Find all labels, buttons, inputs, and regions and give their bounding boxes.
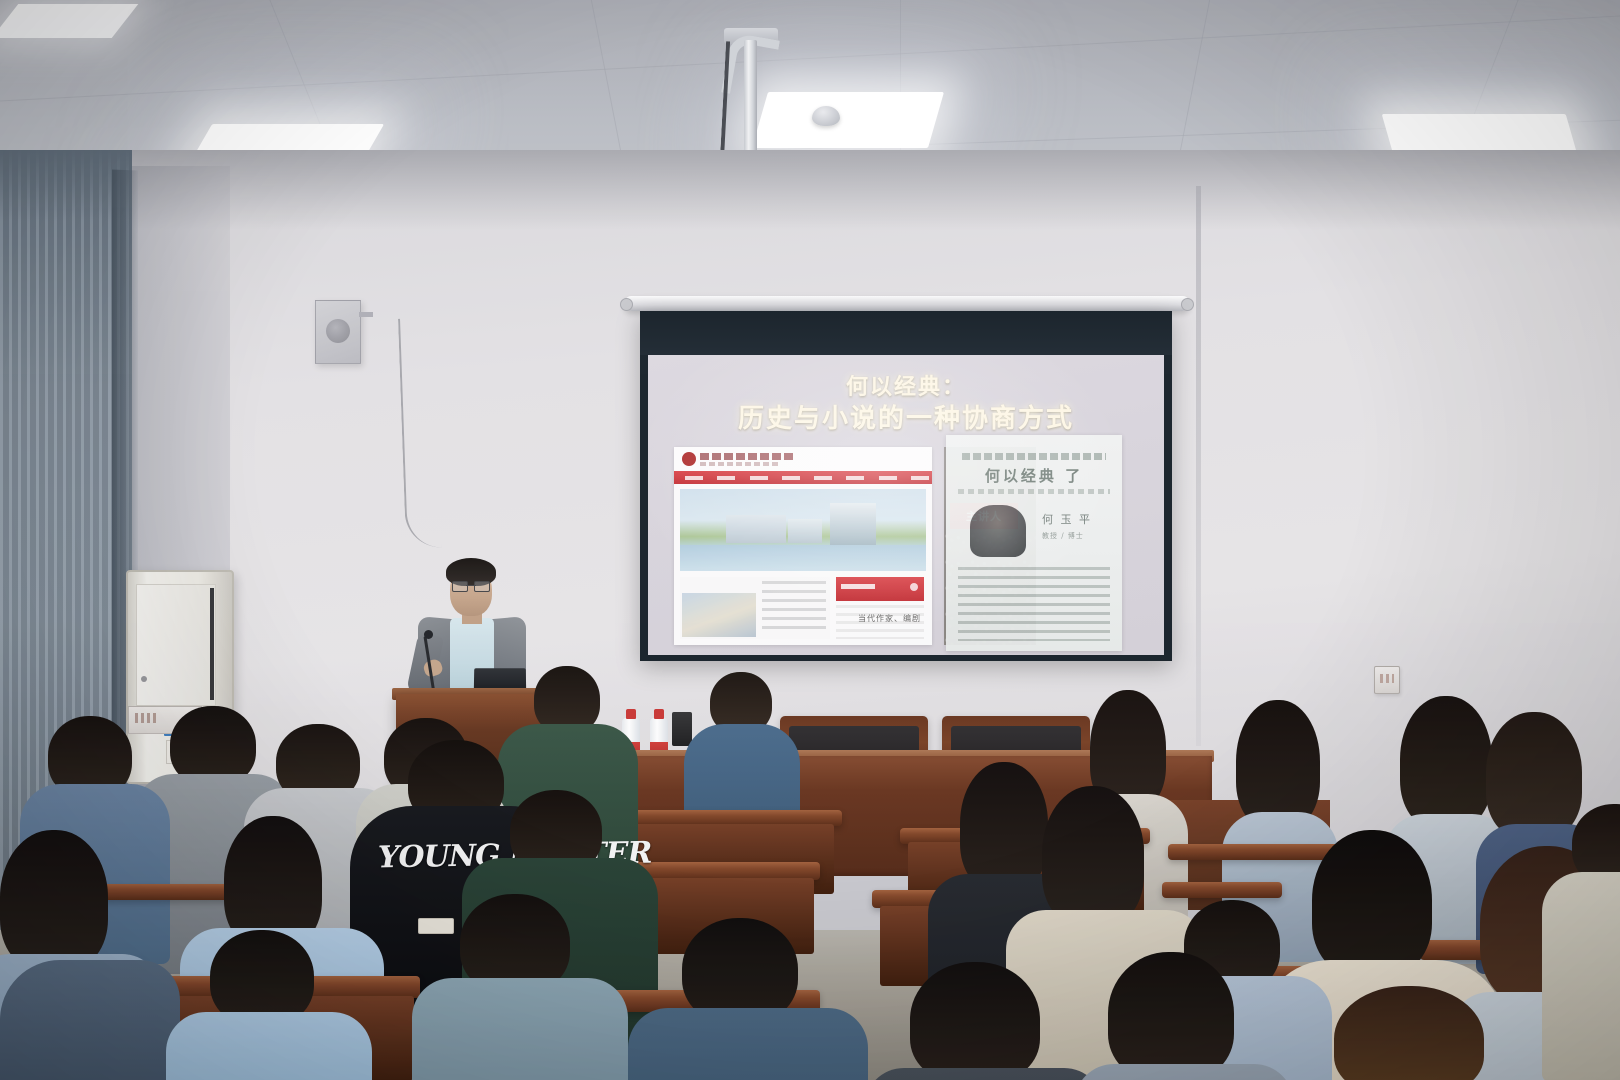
smoke-detector-icon	[812, 106, 840, 126]
ac-vent	[210, 588, 214, 700]
nav-item	[685, 476, 703, 480]
campus-building	[830, 503, 876, 545]
campus-banner-photo	[680, 489, 926, 571]
screen-roller-casing[interactable]	[624, 296, 1190, 311]
eyeglasses-icon	[452, 581, 490, 590]
screen-black-header	[640, 311, 1172, 355]
university-name-text	[700, 453, 796, 460]
website-navbar	[674, 471, 932, 484]
poster-portrait-photo	[970, 505, 1026, 557]
poster-body-text	[958, 567, 1110, 641]
wall-seam	[1196, 186, 1201, 746]
slide-title-line-2: 历史与小说的一种协商方式	[648, 402, 1164, 436]
university-name-subtext	[700, 462, 780, 466]
thermos[interactable]	[672, 712, 692, 746]
floor	[0, 930, 1620, 1080]
slide-title-line-1: 何以经典：	[648, 373, 1164, 402]
screen-surface: 何以经典： 历史与小说的一种协商方式	[648, 355, 1164, 655]
wooden-podium	[396, 694, 542, 814]
wall-outlet-left[interactable]	[128, 706, 202, 734]
nav-item	[750, 476, 768, 480]
microphone-icon	[424, 630, 433, 639]
nav-item	[782, 476, 800, 480]
ac-energy-label	[166, 740, 192, 764]
website-header	[674, 447, 932, 471]
news-text-lines	[762, 581, 826, 635]
lecture-poster: 何以经典 了 何 玉 平 教授 / 博士	[946, 435, 1122, 651]
nav-item	[879, 476, 897, 480]
website-red-widget	[836, 577, 924, 601]
poster-series-line	[962, 453, 1106, 460]
widget-label	[841, 584, 875, 589]
right-side-desk	[1170, 800, 1330, 910]
front-desk	[612, 756, 1212, 876]
ac-indicator-led	[141, 676, 147, 682]
ac-front-panel	[136, 584, 216, 706]
projection-screen: 何以经典： 历史与小说的一种协商方式	[640, 311, 1172, 661]
wall-speaker-icon	[315, 300, 361, 364]
poster-heading: 何以经典 了	[946, 465, 1122, 486]
wall-outlet-right[interactable]	[1374, 666, 1400, 694]
bench-row-2r	[872, 890, 1102, 908]
speaker-bracket	[359, 312, 373, 317]
nav-item	[846, 476, 864, 480]
campus-building	[788, 519, 822, 543]
poster-meta-line	[958, 489, 1110, 494]
website-news-block	[680, 577, 830, 639]
widget-badge	[910, 583, 918, 591]
university-logo-icon	[682, 452, 696, 466]
slide-title: 何以经典： 历史与小说的一种协商方式	[648, 373, 1164, 436]
wall-top-shadow	[110, 150, 1620, 230]
lecture-hall-photo: 何以经典： 历史与小说的一种协商方式	[0, 0, 1620, 1080]
campus-building	[726, 515, 786, 543]
poster-speaker-name: 何 玉 平 教授 / 博士	[1042, 511, 1092, 541]
poster-speaker-title: 教授 / 博士	[1042, 531, 1092, 541]
air-conditioner-unit[interactable]	[126, 570, 234, 784]
news-thumbnail	[682, 593, 756, 637]
poster-speaker-name-text: 何 玉 平	[1042, 513, 1092, 526]
led-panel-light-2	[752, 92, 944, 148]
slide-caption: 当代作家、编剧	[858, 613, 921, 624]
nav-item	[717, 476, 735, 480]
nav-item	[814, 476, 832, 480]
nav-item	[911, 476, 929, 480]
campus-lake	[680, 545, 926, 571]
